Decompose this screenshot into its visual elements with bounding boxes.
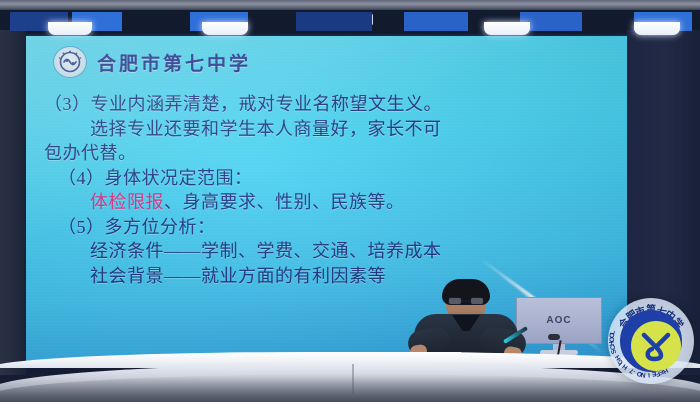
watermark-ring	[620, 310, 682, 372]
ceiling-panel	[296, 12, 372, 31]
ceiling-light	[202, 22, 248, 35]
ceiling-panel	[404, 12, 468, 31]
ceiling-light	[634, 22, 680, 35]
eyeglasses-icon	[448, 297, 484, 305]
school-watermark-logo: 合肥市第七中学 HEFEI NO.7 HIGH SCHOOL	[608, 298, 694, 384]
microphone-head-icon	[548, 334, 560, 340]
ceiling-light	[484, 22, 530, 35]
ceiling-light	[48, 22, 92, 35]
wall-left-column	[0, 30, 26, 375]
watermark-monogram	[631, 321, 681, 371]
video-frame: 合肥市第七中学 （3）专业内涵弄清楚，戒对专业名称望文生义。 选择专业还要和学生…	[0, 0, 700, 402]
ceiling-rail	[0, 0, 700, 10]
monitor-brand-label: AOC	[546, 315, 571, 326]
